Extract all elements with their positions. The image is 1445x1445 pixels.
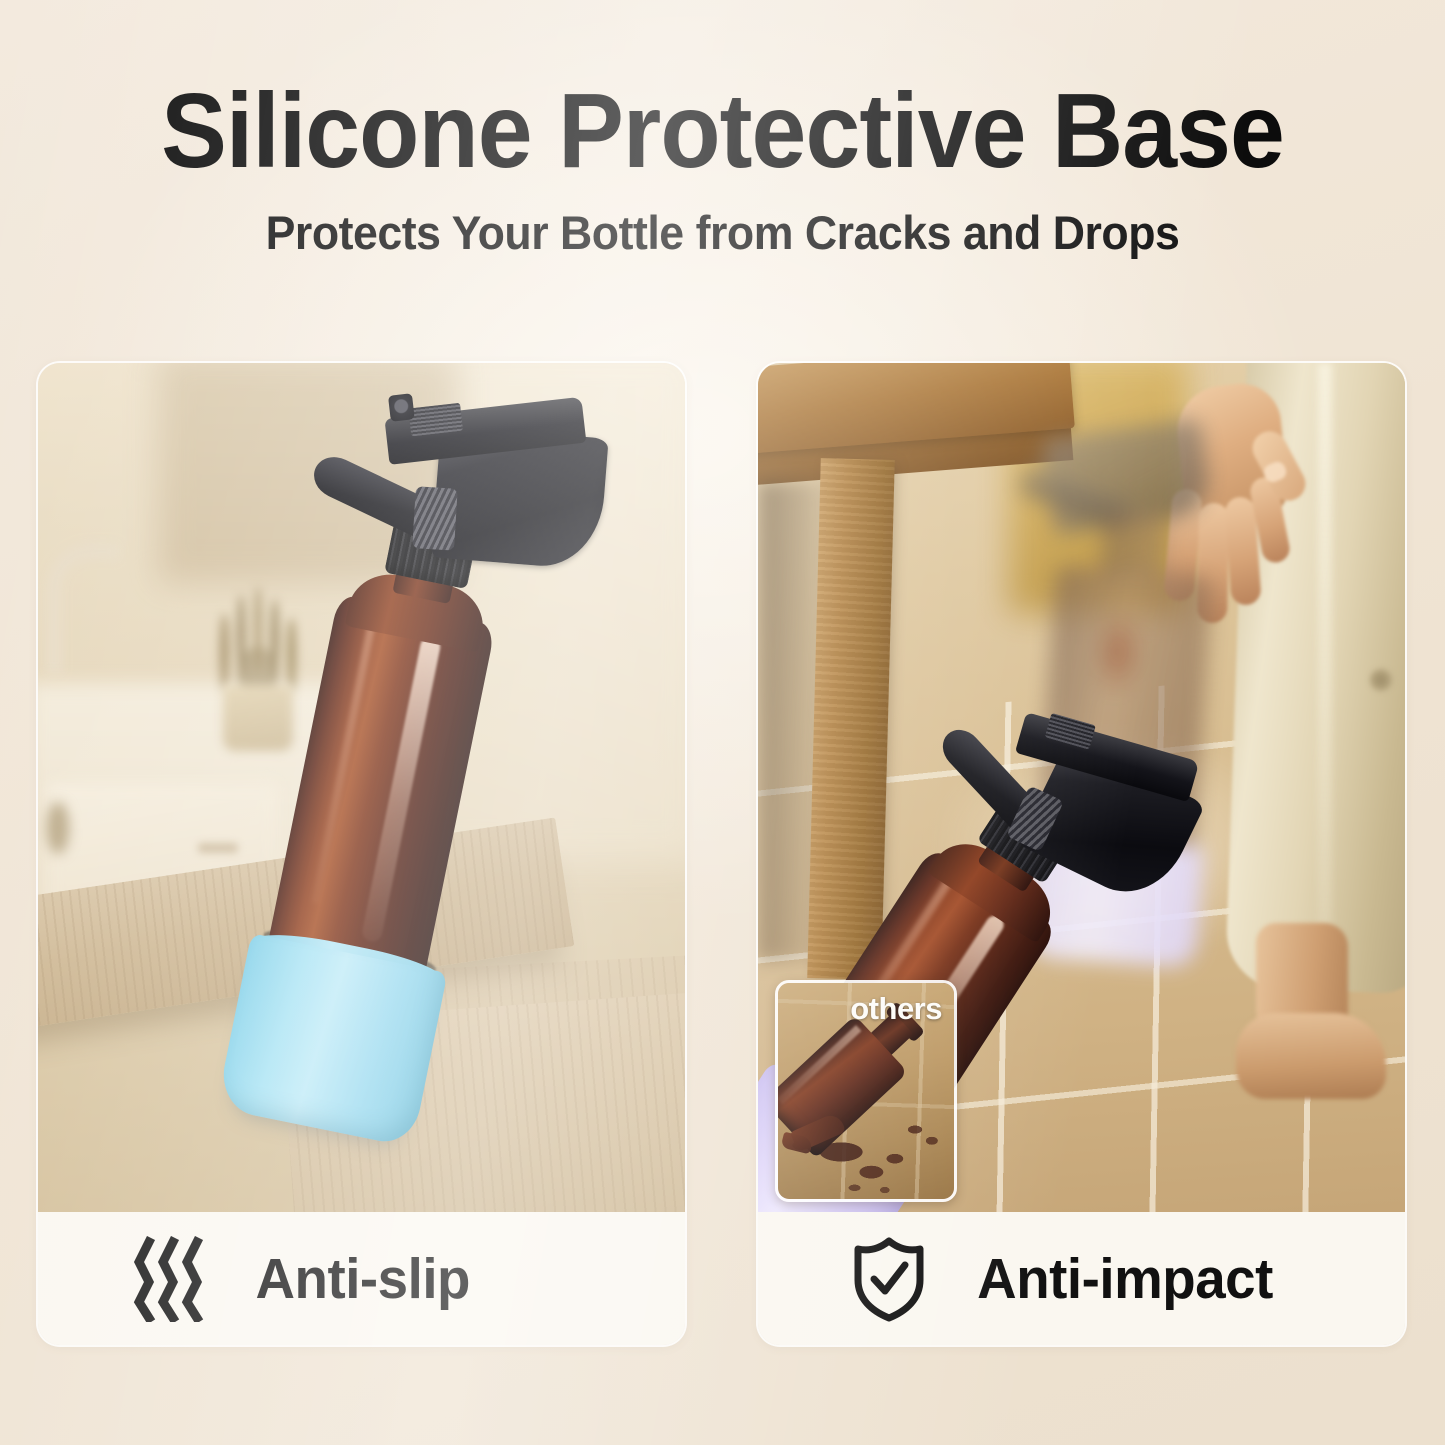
plant-sprig: [38, 793, 88, 863]
faucet: [46, 543, 118, 673]
zigzag-lines-icon: [133, 1236, 205, 1322]
inset-others-comparison: others: [775, 980, 957, 1202]
photo-anti-impact: others: [758, 363, 1405, 1212]
page-title: Silicone Protective Base: [51, 78, 1395, 184]
caption-label: Anti-slip: [255, 1246, 470, 1312]
caption-anti-impact: Anti-impact: [758, 1212, 1405, 1345]
sprayer-nozzle: [388, 393, 415, 422]
ghost-body-tint: [1081, 590, 1155, 714]
page-subtitle: Protects Your Bottle from Cracks and Dro…: [36, 209, 1409, 256]
product-feature-image: Silicone Protective Base Protects Your B…: [0, 0, 1445, 1445]
feature-card-anti-impact: others Anti-impact: [758, 363, 1405, 1345]
shield-check-icon: [853, 1236, 925, 1322]
person-foot: [1236, 1013, 1386, 1099]
photo-anti-slip: [38, 363, 685, 1212]
caption-label: Anti-impact: [977, 1246, 1273, 1312]
sprayer-pivot: [412, 486, 458, 550]
inset-label: others: [850, 991, 942, 1027]
trouser-crease: [1318, 363, 1332, 963]
trouser-pocket: [1370, 669, 1392, 691]
feature-card-anti-slip: Anti-slip: [38, 363, 685, 1345]
sprayer-vent: [408, 403, 463, 437]
caption-anti-slip: Anti-slip: [38, 1212, 685, 1345]
